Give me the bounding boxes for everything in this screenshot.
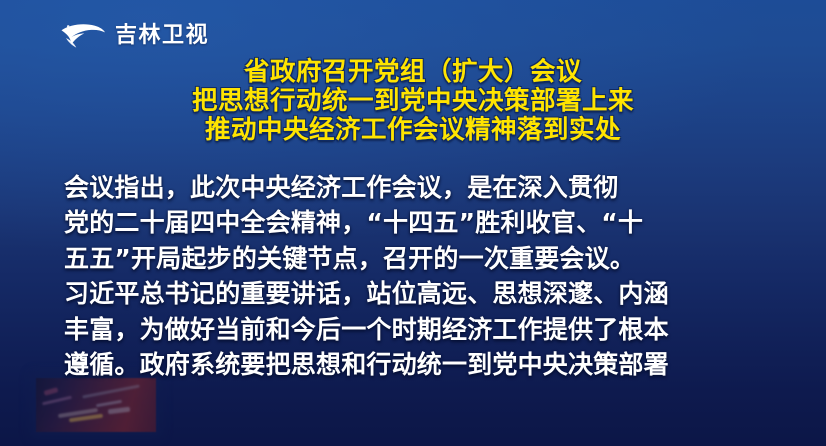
jilin-tv-crane-swoosh-icon [58,21,106,51]
body-paragraph: 会议指出，此次中央经济工作会议，是在深入贯彻 党的二十届四中全会精神，“十四五”… [64,170,766,382]
headline-block: 省政府召开党组（扩大）会议 把思想行动统一到党中央决策部署上来 推动中央经济工作… [0,58,826,145]
video-streak [82,384,140,398]
broadcast-lower-third-screen: 吉林卫视 省政府召开党组（扩大）会议 把思想行动统一到党中央决策部署上来 推动中… [0,0,826,446]
video-streak [44,387,59,396]
faded-video-frame [36,378,156,432]
headline-line-3: 推动中央经济工作会议精神落到实处 [0,116,826,145]
video-streak [42,396,72,406]
channel-logo: 吉林卫视 [58,19,209,53]
body-line-4: 习近平总书记的重要讲话，站位高远、思想深邃、内涵 [64,276,766,311]
body-line-3: 五五”开局起步的关键节点，召开的一次重要会议。 [64,241,766,276]
headline-line-1: 省政府召开党组（扩大）会议 [0,58,826,87]
body-line-1: 会议指出，此次中央经济工作会议，是在深入贯彻 [64,170,766,205]
body-line-5: 丰富，为做好当前和今后一个时期经济工作提供了根本 [64,312,766,347]
headline-line-2: 把思想行动统一到党中央决策部署上来 [0,87,826,116]
video-streak [96,400,122,407]
body-line-2: 党的二十届四中全会精神，“十四五”胜利收官、“十 [64,205,766,240]
body-line-6: 遵循。政府系统要把思想和行动统一到党中央决策部署 [64,347,766,382]
video-streak [108,407,130,415]
channel-wordmark: 吉林卫视 [115,25,209,47]
